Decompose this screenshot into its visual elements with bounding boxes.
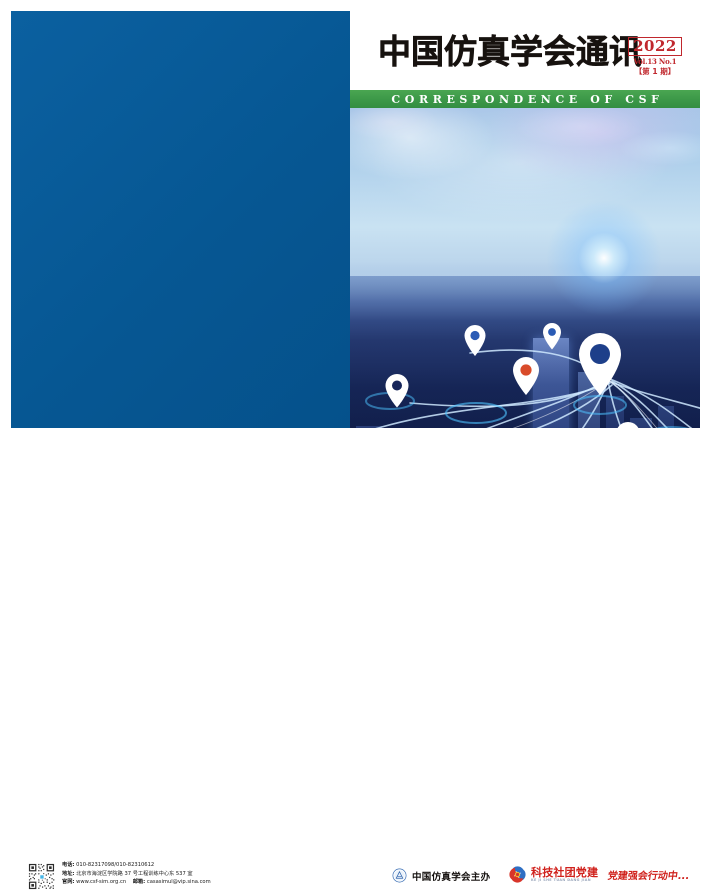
issue-year: 2022 bbox=[628, 37, 682, 56]
title-english: CORRESPONDENCE OF CSF bbox=[386, 93, 663, 106]
contact-phone-value: 010-82317098/010-82310612 bbox=[76, 862, 154, 868]
issue-number: 【第 1 期】 bbox=[635, 67, 675, 77]
magazine-cover-spread: 中国仿真学会通讯 2022 Vol.13 No.1 【第 1 期】 CORRES… bbox=[0, 0, 723, 469]
building bbox=[658, 406, 674, 428]
party-brand-text: 科技社团党建 KE JI SHE TUAN DANG JIAN bbox=[531, 867, 598, 883]
contact-email-value[interactable]: casasimul@vip.sina.com bbox=[147, 879, 211, 885]
party-brand-block: 科技社团党建 KE JI SHE TUAN DANG JIAN 党建强会行动中.… bbox=[508, 865, 690, 884]
masthead: 中国仿真学会通讯 2022 Vol.13 No.1 【第 1 期】 bbox=[350, 11, 700, 90]
issue-badge: 2022 Vol.13 No.1 【第 1 期】 bbox=[627, 37, 683, 84]
contact-address-label: 地址: bbox=[62, 871, 74, 877]
building bbox=[606, 396, 624, 428]
cover-photo bbox=[350, 108, 700, 428]
issue-volume: Vol.13 No.1 bbox=[634, 57, 677, 66]
contact-website-value[interactable]: www.csf-sim.org.cn bbox=[76, 879, 126, 885]
party-brand-en: KE JI SHE TUAN DANG JIAN bbox=[531, 879, 598, 882]
back-cover-panel bbox=[11, 11, 350, 428]
contact-address: 地址: 北京市海淀区学院路 37 号工程训练中心东 537 室 bbox=[62, 870, 322, 879]
front-cover-panel: 中国仿真学会通讯 2022 Vol.13 No.1 【第 1 期】 CORRES… bbox=[350, 11, 700, 428]
light-burst bbox=[544, 198, 664, 318]
party-slogan: 党建强会行动中... bbox=[607, 867, 691, 882]
qr-code[interactable] bbox=[28, 863, 55, 890]
page-title: 中国仿真学会通讯 bbox=[378, 34, 642, 70]
english-title-band: CORRESPONDENCE OF CSF bbox=[350, 90, 700, 108]
contact-phone-label: 电话: bbox=[62, 862, 74, 868]
contact-email-label: 邮箱: bbox=[133, 879, 145, 885]
sponsor-block: 中国仿真学会主办 bbox=[392, 868, 490, 883]
contact-block: 电话: 010-82317098/010-82310612 地址: 北京市海淀区… bbox=[62, 861, 322, 887]
contact-address-value: 北京市海淀区学院路 37 号工程训练中心东 537 室 bbox=[76, 871, 192, 877]
contact-web: 官网: www.csf-sim.org.cn 邮箱: casasimul@vip… bbox=[62, 878, 322, 887]
sponsor-label: 中国仿真学会主办 bbox=[412, 869, 490, 883]
building bbox=[630, 418, 652, 428]
skyscraper-main bbox=[533, 338, 569, 428]
skyscraper-second bbox=[578, 372, 600, 428]
contact-phone: 电话: 010-82317098/010-82310612 bbox=[62, 861, 322, 870]
footer-bar: 电话: 010-82317098/010-82310612 地址: 北京市海淀区… bbox=[0, 428, 723, 469]
contact-website-label: 官网: bbox=[62, 879, 74, 885]
csf-society-logo-icon bbox=[392, 868, 407, 883]
party-building-logo-icon bbox=[508, 865, 527, 884]
party-brand-cn: 科技社团党建 bbox=[531, 867, 598, 878]
